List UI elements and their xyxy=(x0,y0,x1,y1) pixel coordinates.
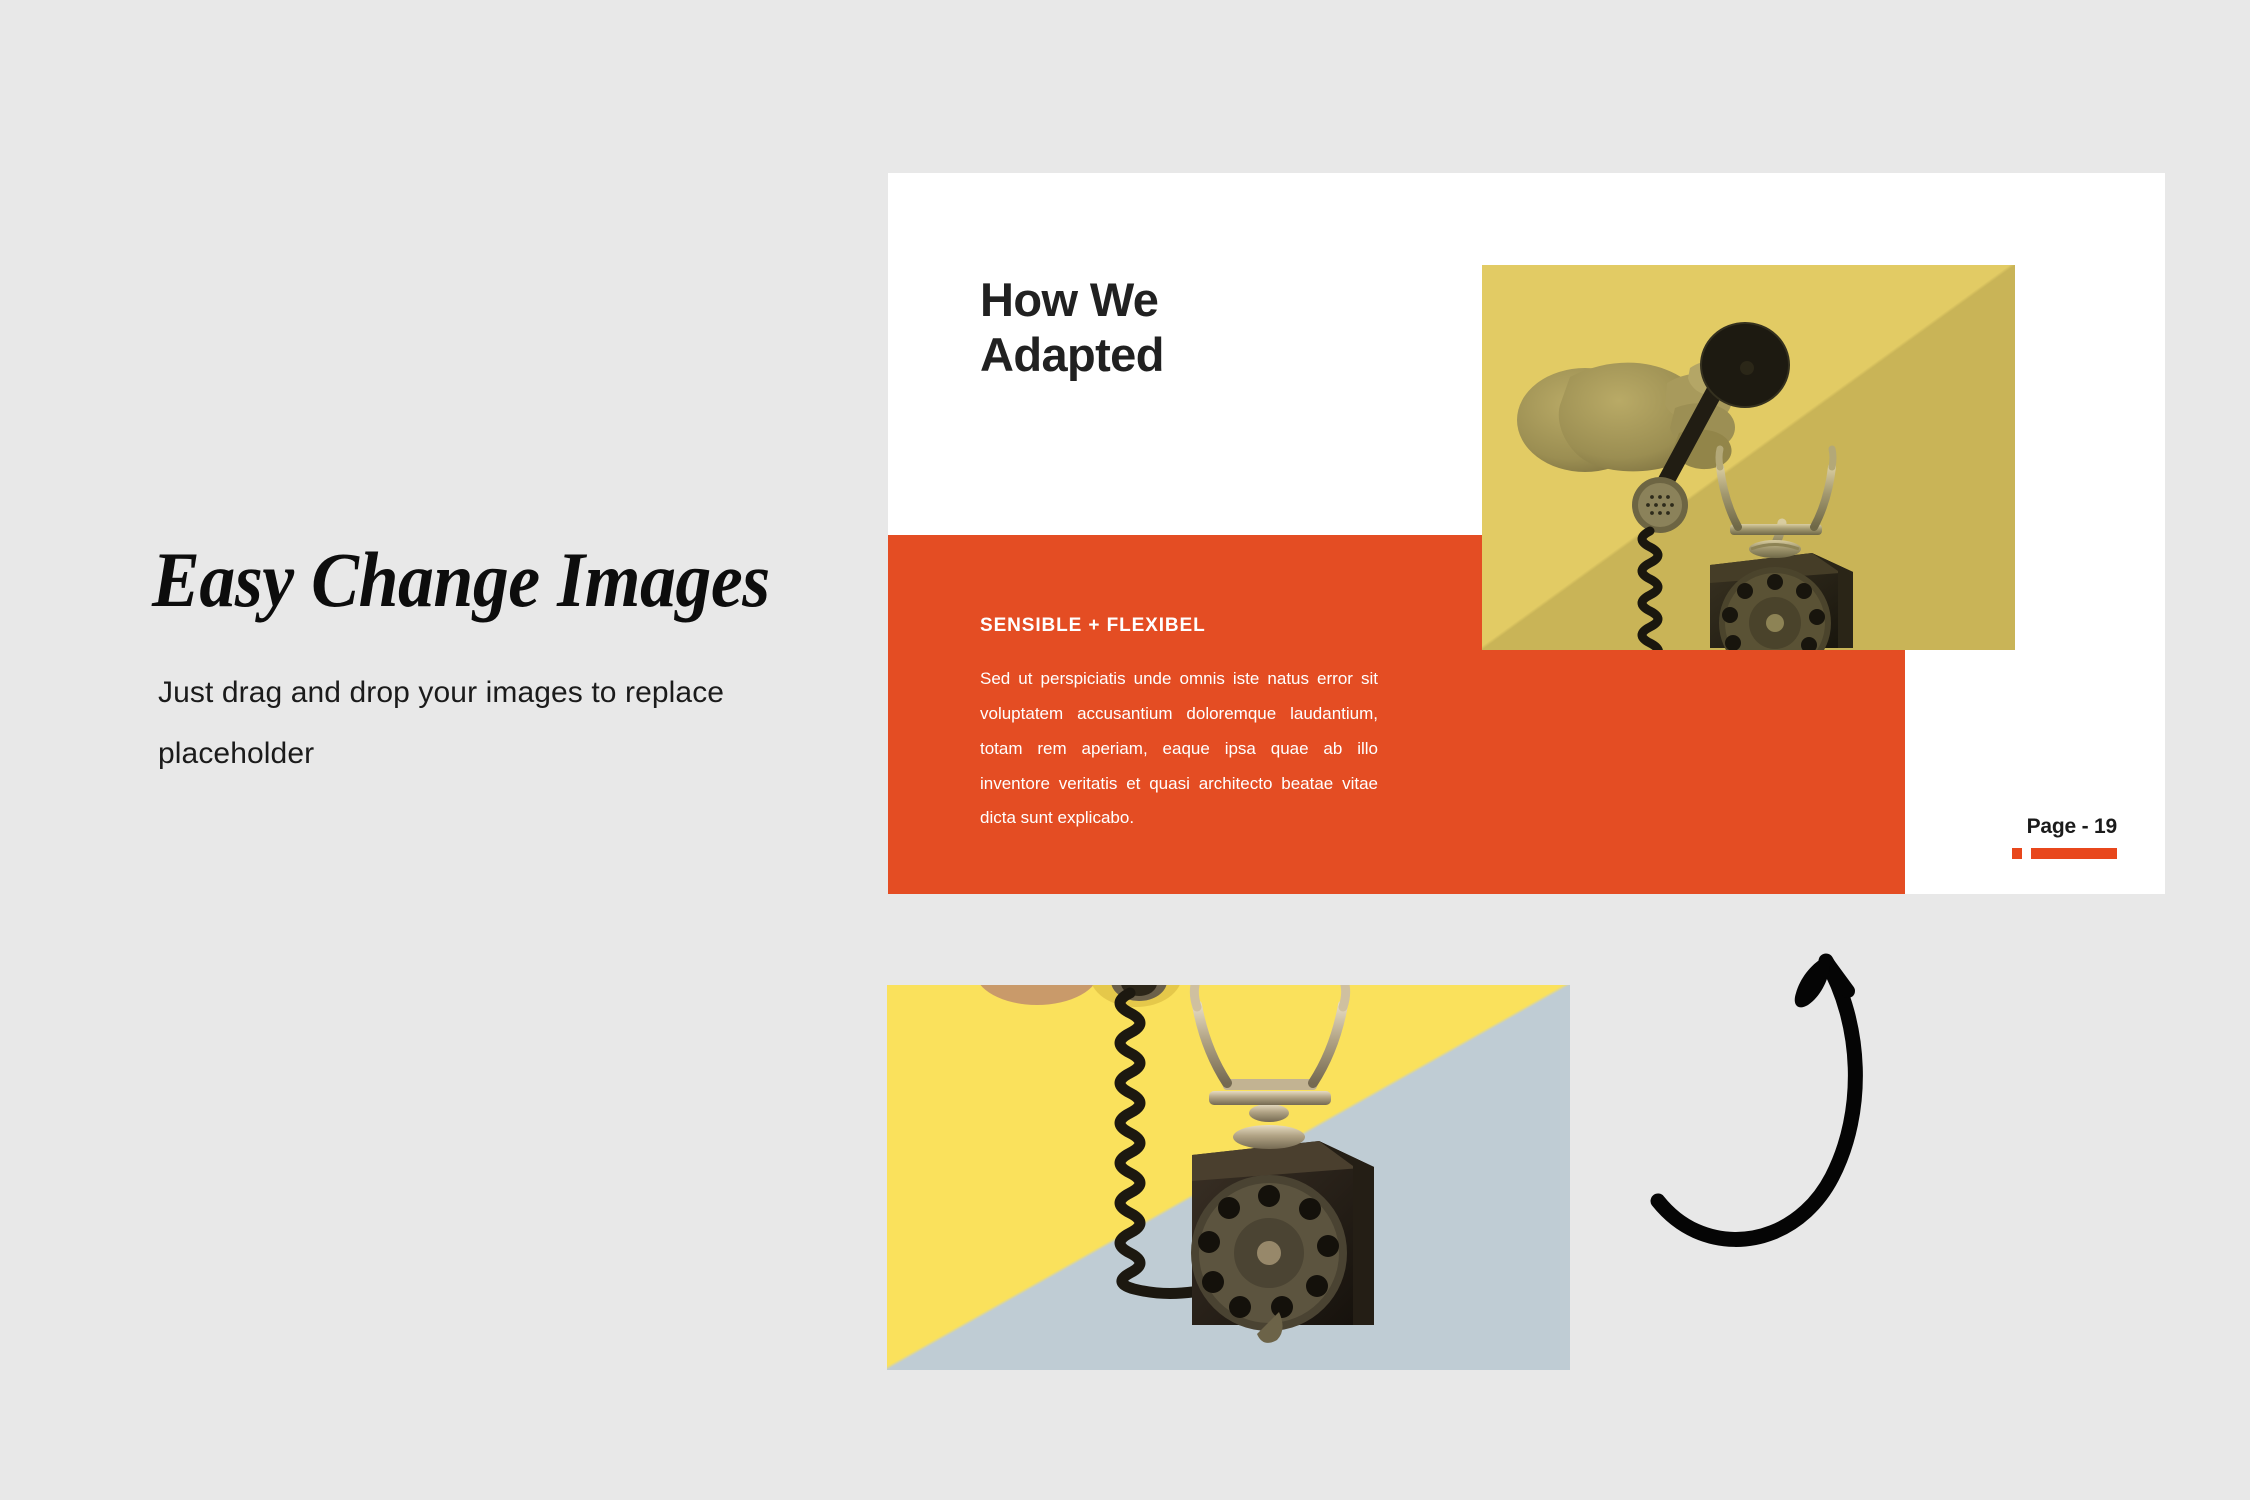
slide-heading-line-1: How We xyxy=(980,273,1164,328)
slide-preview[interactable]: How We Adapted SENSIBLE + FLEXIBEL Sed u… xyxy=(888,173,2165,894)
slide-page-footer: Page - 19 xyxy=(2012,815,2117,859)
panel-body-text: Sed ut perspiciatis unde omnis iste natu… xyxy=(980,662,1378,836)
slide-heading-line-2: Adapted xyxy=(980,328,1164,383)
phone-illustration xyxy=(1482,265,2015,650)
page-rule-dot xyxy=(2012,848,2022,859)
page-title: Easy Change Images xyxy=(152,535,770,625)
page-rule xyxy=(2012,848,2117,859)
canvas: Easy Change Images Just drag and drop yo… xyxy=(0,0,2250,1500)
slide-photo-duotone[interactable] xyxy=(1482,265,2015,650)
curved-drag-arrow-icon xyxy=(1600,905,1890,1265)
page-rule-bar xyxy=(2031,848,2117,859)
panel-kicker-label: SENSIBLE + FLEXIBEL xyxy=(980,615,1206,637)
placeholder-photo[interactable] xyxy=(887,985,1570,1370)
page-number-label: Page - 19 xyxy=(2012,815,2117,839)
page-subtitle: Just drag and drop your images to replac… xyxy=(158,662,818,784)
slide-heading: How We Adapted xyxy=(980,273,1164,383)
phone-illustration xyxy=(887,985,1570,1370)
